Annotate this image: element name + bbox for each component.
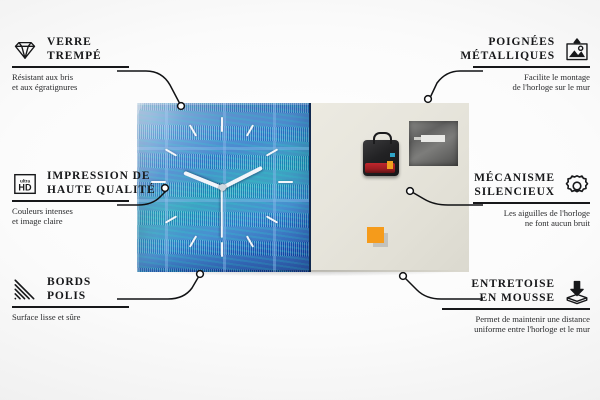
feature-header: VERRE TREMPÉ <box>12 36 212 63</box>
clock-tick <box>266 215 278 223</box>
feature-header: ultra HD IMPRESSION DE HAUTE QUALITÉ <box>12 170 212 197</box>
feature-rule <box>442 308 590 310</box>
clock-second-hand <box>221 188 223 238</box>
feature-desc-line1: Permet de maintenir une distance <box>390 314 590 325</box>
clock-tick <box>221 242 223 257</box>
glass-mullion <box>273 103 276 272</box>
feature-rule <box>473 66 590 68</box>
feature-desc-line2: uniforme entre l'horloge et le mur <box>390 324 590 335</box>
foam-spacer <box>367 227 384 243</box>
clock-tick <box>221 117 223 132</box>
metal-hanger-plate <box>409 121 458 166</box>
polished-edge-icon <box>12 277 38 303</box>
feature-title: POIGNÉES MÉTALLIQUES <box>460 36 555 63</box>
feature-desc-line2: et image claire <box>12 216 212 227</box>
svg-text:HD: HD <box>18 182 32 192</box>
diamond-icon <box>12 37 38 63</box>
feature-header: BORDS POLIS <box>12 276 212 303</box>
clock-tick <box>189 124 197 136</box>
feature-verre-trempe: VERRE TREMPÉ Résistant aux bris et aux é… <box>12 36 212 93</box>
feature-desc-line2: ne font aucun bruit <box>390 218 590 229</box>
feature-rule <box>473 202 590 204</box>
feature-desc-line1: Facilite le montage <box>390 72 590 83</box>
feature-desc-line1: Couleurs intenses <box>12 206 212 217</box>
clock-tick <box>278 181 293 183</box>
feature-impression-haute-qualite: ultra HD IMPRESSION DE HAUTE QUALITÉ Cou… <box>12 170 212 227</box>
feature-desc-line1: Surface lisse et sûre <box>12 312 212 323</box>
feature-title: VERRE TREMPÉ <box>47 36 102 63</box>
gear-icon <box>564 173 590 199</box>
product-infographic: VERRE TREMPÉ Résistant aux bris et aux é… <box>0 0 600 400</box>
feature-desc-line1: Résistant aux bris <box>12 72 212 83</box>
feature-title: MÉCANISME SILENCIEUX <box>474 172 555 199</box>
feature-header: POIGNÉES MÉTALLIQUES <box>390 36 590 63</box>
clock-tick <box>246 124 254 136</box>
feature-header: MÉCANISME SILENCIEUX <box>390 172 590 199</box>
feature-desc-line2: et aux égratignures <box>12 82 212 93</box>
mechanism-hook <box>373 132 392 144</box>
feature-header: ENTRETOISE EN MOUSSE <box>390 278 590 305</box>
ultra-hd-icon: ultra HD <box>12 171 38 197</box>
hanger-slot <box>421 135 445 142</box>
clock-tick <box>189 235 197 247</box>
feature-mecanisme-silencieux: MÉCANISME SILENCIEUX Les aiguilles de l'… <box>390 172 590 229</box>
feature-desc-line1: Les aiguilles de l'horloge <box>390 208 590 219</box>
picture-hanger-icon <box>564 37 590 63</box>
connector-dot <box>425 96 432 103</box>
clock-minute-hand <box>221 166 263 190</box>
feature-poignees-metalliques: POIGNÉES MÉTALLIQUES Facilite le montage… <box>390 36 590 93</box>
glass-mullion <box>137 147 309 150</box>
feature-bords-polis: BORDS POLIS Surface lisse et sûre <box>12 276 212 322</box>
mechanism-label <box>390 153 395 157</box>
feature-rule <box>12 306 129 308</box>
feature-rule <box>12 200 129 202</box>
feature-desc-line2: de l'horloge sur le mur <box>390 82 590 93</box>
feature-title: IMPRESSION DE HAUTE QUALITÉ <box>47 170 156 197</box>
clock-mechanism <box>363 140 399 176</box>
feature-entretoise-en-mousse: ENTRETOISE EN MOUSSE Permet de maintenir… <box>390 278 590 335</box>
feature-title: ENTRETOISE EN MOUSSE <box>471 278 555 305</box>
feature-title: BORDS POLIS <box>47 276 91 303</box>
spacer-arrow-icon <box>564 279 590 305</box>
clock-tick <box>246 235 254 247</box>
feature-rule <box>12 66 129 68</box>
clock-hand-cap <box>219 184 226 191</box>
battery-terminal <box>387 161 393 169</box>
